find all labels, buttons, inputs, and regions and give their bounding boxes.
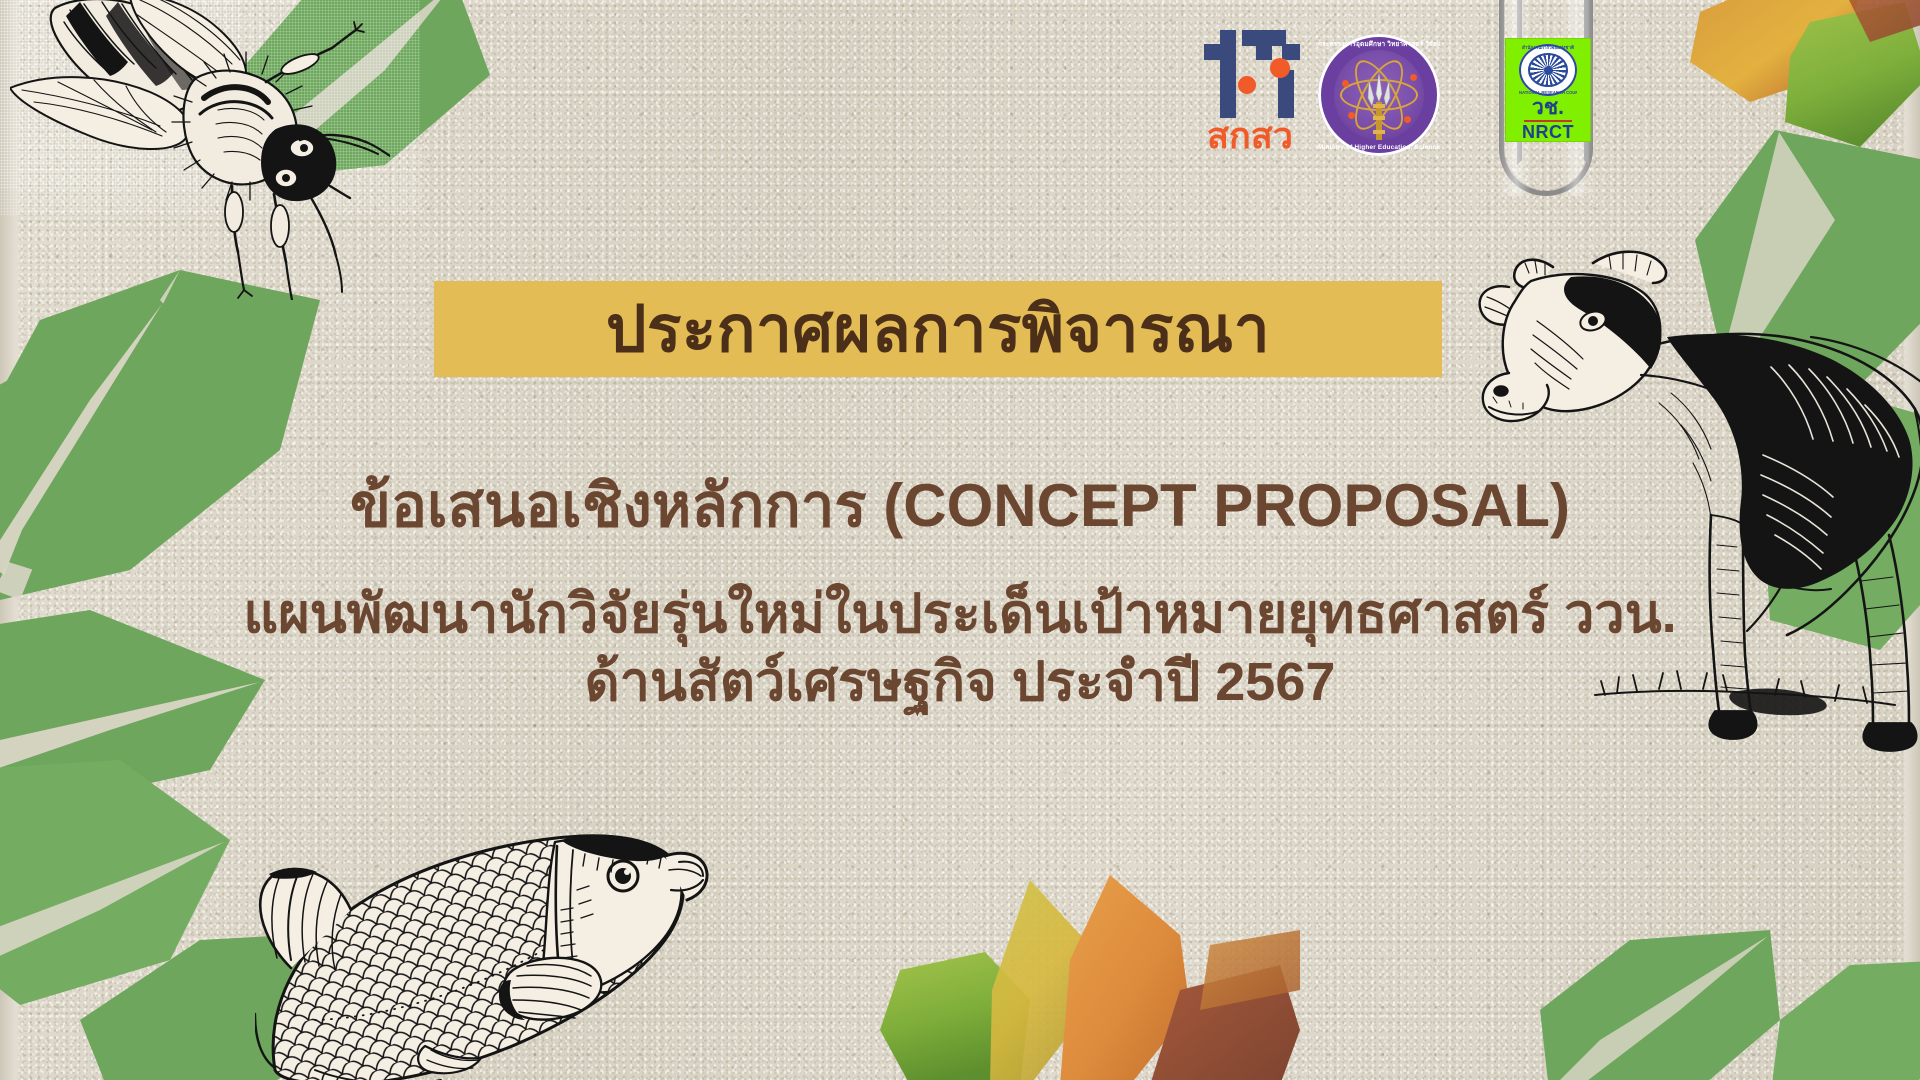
- tsri-wordmark: สกสว: [1190, 118, 1310, 154]
- mhesi-electron-3: [1348, 112, 1355, 119]
- bee-engraving: [10, 0, 390, 300]
- autumn-leaf-bottom-center: [880, 870, 1300, 1080]
- fish-engraving: [255, 770, 895, 1080]
- poster-canvas: สำนักงานการวิจัยแห่งชาติ NATIONAL RESEAR…: [0, 0, 1920, 1080]
- logo-row: สกสว กระทรวงการอุดมศึกษา วิทยาศาสตร์ วิจ…: [1190, 20, 1620, 180]
- main-heading: ข้อเสนอเชิงหลักการ (CONCEPT PROPOSAL): [0, 458, 1920, 553]
- tsri-mark-icon: [1204, 30, 1300, 118]
- banner-title: ประกาศผลการพิจารณา: [606, 297, 1270, 361]
- autumn-leaf-top-right: [1690, 0, 1920, 172]
- tsri-logo: สกสว: [1190, 30, 1310, 170]
- mhesi-electron-4: [1404, 116, 1411, 123]
- green-leaf-right-corner: [1770, 960, 1920, 1080]
- green-leaf-right-bottom: [1540, 930, 1780, 1080]
- mhesi-trident-icon: [1366, 72, 1392, 146]
- mhesi-electron-1: [1342, 80, 1349, 87]
- subheading-line-2: ด้านสัตว์เศรษฐกิจ ประจำปี 2567: [0, 638, 1920, 724]
- mhesi-logo: กระทรวงการอุดมศึกษา วิทยาศาสตร์ วิจัยและ…: [1318, 34, 1440, 156]
- mhesi-ring-text-top: กระทรวงการอุดมศึกษา วิทยาศาสตร์ วิจัยและ…: [1318, 39, 1440, 49]
- announcement-banner: ประกาศผลการพิจารณา: [434, 281, 1442, 377]
- mhesi-electron-2: [1410, 74, 1417, 81]
- mhesi-inner-disc: [1334, 50, 1424, 140]
